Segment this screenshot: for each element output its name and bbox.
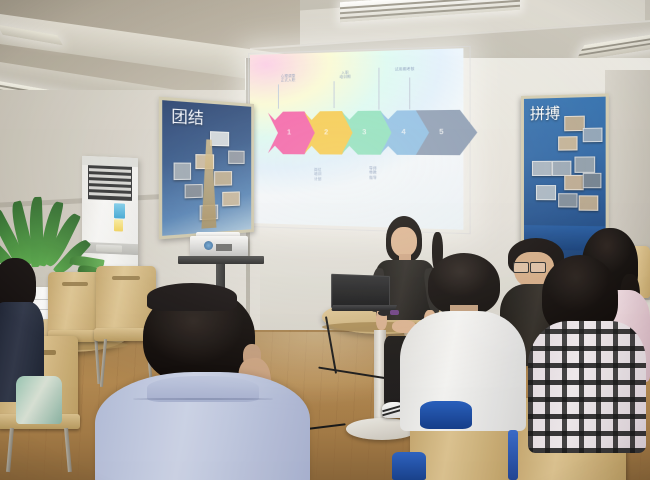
poster-photo	[564, 175, 584, 190]
projector-vent-icon	[216, 244, 232, 251]
slide-connector-tick	[278, 84, 279, 108]
ac-grille-icon	[88, 165, 132, 201]
poster-photo	[574, 156, 595, 172]
tripod-shelf	[178, 256, 264, 264]
poster-photo	[532, 161, 552, 176]
attendee-shoulder-seam	[133, 398, 273, 400]
laptop-screen[interactable]	[331, 274, 390, 308]
presenter-remote[interactable]	[378, 310, 390, 316]
slide-connector-tick	[334, 81, 335, 108]
slide-top-label-2: 入职 培训期	[327, 70, 363, 80]
poster-photo	[583, 173, 602, 188]
poster-unity: 团结	[159, 97, 254, 240]
poster-unity-title: 团结	[171, 110, 204, 128]
attendee-left-edge	[0, 258, 52, 398]
blue-strap	[508, 430, 518, 480]
poster-photo	[185, 184, 203, 198]
poster-photo	[558, 136, 577, 150]
poster-photo	[579, 195, 599, 211]
poster-photo	[583, 128, 603, 143]
attendee-plaid	[528, 255, 646, 480]
blue-bag-floor	[392, 452, 426, 480]
slide-connector-tick	[409, 77, 410, 109]
poster-photo	[174, 163, 192, 181]
attendee-blue-bag	[420, 401, 472, 429]
slide-bottom-label-2: 导师 带教 指导	[359, 166, 387, 180]
poster-photo	[228, 150, 244, 163]
slide-step-5: 5	[416, 110, 478, 156]
slide-bottom-label-1: 岗位 培训 计划	[304, 168, 331, 182]
projector[interactable]	[190, 236, 248, 257]
poster-photo	[536, 185, 556, 200]
classroom-scene: 心理调整 正式入职 入职 培训期 试用期考核 1 2 3 4	[0, 0, 650, 480]
poster-striving-title: 拼搏	[530, 106, 560, 123]
poster-photo	[552, 161, 571, 176]
attendee-lap-item	[16, 376, 62, 424]
poster-photo	[558, 193, 577, 207]
attendee-hair-top	[147, 283, 237, 311]
ac-energy-label	[114, 219, 123, 231]
laptop[interactable]	[330, 276, 396, 314]
slide-top-label-3: 试用期考核	[381, 66, 430, 72]
poster-photo	[564, 116, 585, 132]
projector-lens-icon	[204, 241, 213, 250]
attendee-white-shirt	[398, 253, 528, 453]
slide-step-5-number: 5	[416, 129, 468, 137]
attendee-torso	[528, 321, 646, 453]
poster-photo	[222, 191, 240, 206]
poster-photo	[210, 131, 229, 146]
ac-badge-sticker	[114, 203, 125, 218]
projection-screen[interactable]: 心理调整 正式入职 入职 培训期 试用期考核 1 2 3 4	[250, 48, 463, 230]
slide-top-label-1: 心理调整 正式入职	[268, 74, 309, 84]
attendee-foreground	[95, 288, 310, 480]
slide-connector-tick	[378, 68, 379, 110]
poster-photo	[214, 171, 232, 186]
